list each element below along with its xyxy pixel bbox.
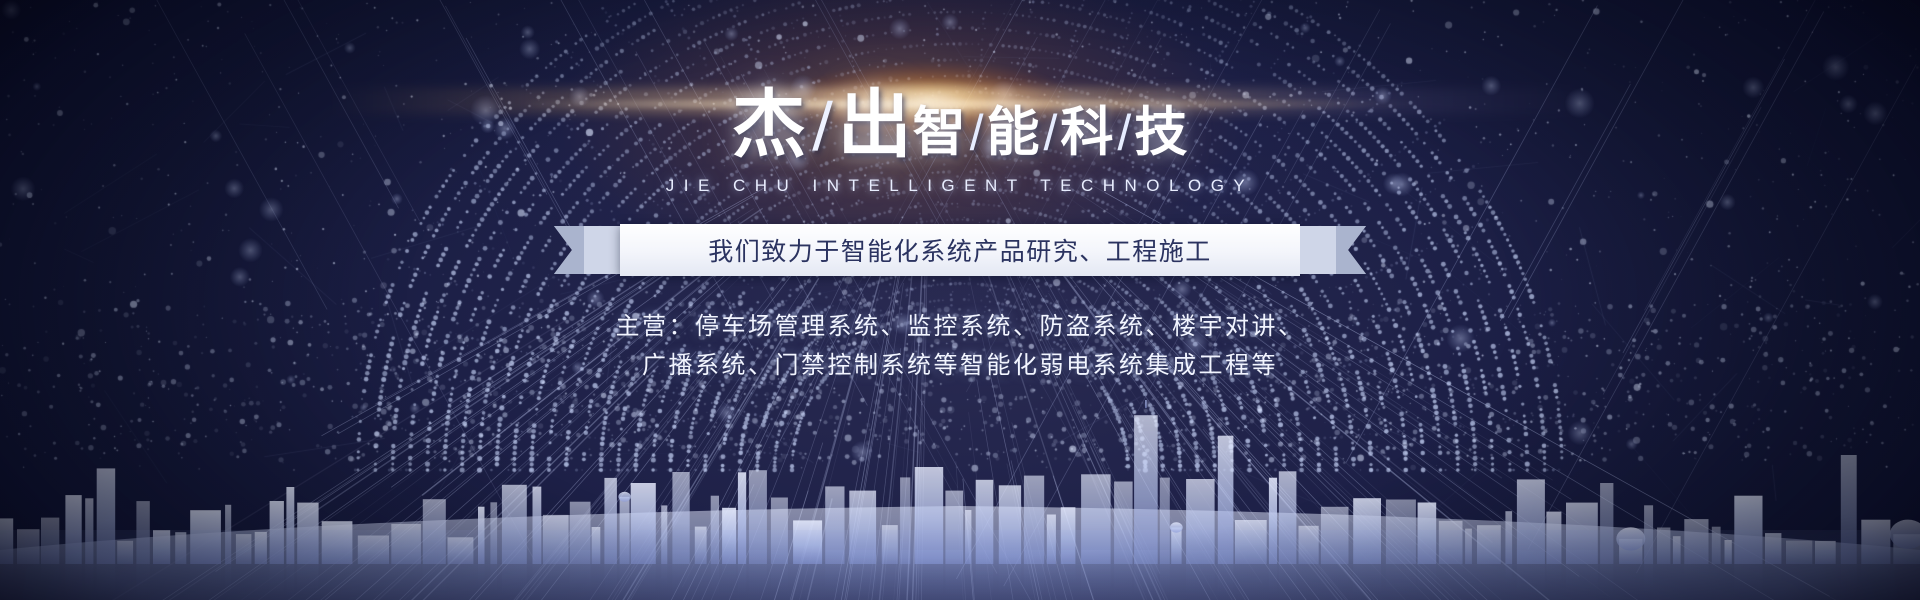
title-slash-2: / xyxy=(970,108,984,158)
title-slash-3: / xyxy=(1044,108,1058,158)
services-line-1: 主营：停车场管理系统、监控系统、防盗系统、楼宇对讲、 xyxy=(616,308,1305,347)
banner-content: 杰 / 出 智 / 能 / 科 / 技 JIE CHU INTELLIGENT … xyxy=(0,0,1920,600)
title-char-neng: 能 xyxy=(987,106,1041,159)
title-slash-1: / xyxy=(812,93,833,161)
title-char-zhi: 智 xyxy=(913,106,967,159)
services-description: 主营：停车场管理系统、监控系统、防盗系统、楼宇对讲、 广播系统、门禁控制系统等智… xyxy=(616,308,1305,386)
slogan-ribbon: 我们致力于智能化系统产品研究、工程施工 xyxy=(620,222,1300,278)
title-slash-4: / xyxy=(1117,108,1131,158)
ribbon-bar: 我们致力于智能化系统产品研究、工程施工 xyxy=(620,224,1300,276)
title-char-chu: 出 xyxy=(838,88,913,162)
title-char-jie: 杰 xyxy=(732,88,807,162)
brand-title: 杰 / 出 智 / 能 / 科 / 技 xyxy=(732,88,1189,162)
brand-subtitle-english: JIE CHU INTELLIGENT TECHNOLOGY xyxy=(666,176,1255,196)
services-line-2: 广播系统、门禁控制系统等智能化弱电系统集成工程等 xyxy=(616,347,1305,386)
ribbon-text: 我们致力于智能化系统产品研究、工程施工 xyxy=(708,232,1212,268)
title-char-ji: 技 xyxy=(1134,106,1188,159)
title-char-ke: 科 xyxy=(1060,106,1114,159)
ribbon-tail-right-icon xyxy=(1300,226,1366,274)
ribbon-tail-left-icon xyxy=(554,226,620,274)
hero-banner: 杰 / 出 智 / 能 / 科 / 技 JIE CHU INTELLIGENT … xyxy=(0,0,1920,600)
